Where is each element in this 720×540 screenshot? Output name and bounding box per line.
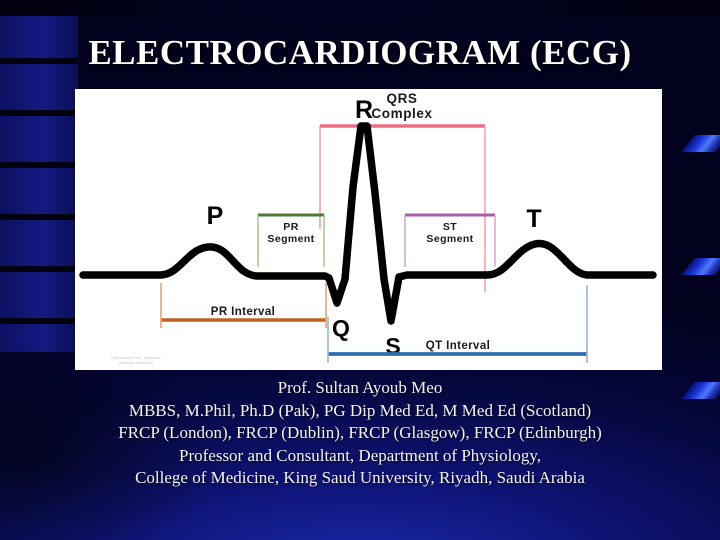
annotation-label-qrs-line2: Complex [371, 106, 432, 121]
author-line-3: FRCP (London), FRCP (Dublin), FRCP (Glas… [0, 422, 720, 445]
wave-label-q: Q [332, 315, 350, 341]
stripe-row [0, 220, 78, 266]
stripe-row [0, 116, 78, 162]
author-line-1: Prof. Sultan Ayoub Meo [0, 377, 720, 400]
wave-label-r: R [355, 96, 373, 124]
wave-label-t: T [526, 205, 541, 233]
page-title: ELECTROCARDIOGRAM (ECG) [0, 33, 720, 73]
annotation-label-pr-segment-line2: Segment [267, 233, 314, 245]
author-line-2: MBBS, M.Phil, Ph.D (Pak), PG Dip Med Ed,… [0, 400, 720, 423]
figure-watermark-line1: Reproduced from: Wikipedia [111, 356, 160, 360]
ecg-waveform-diagram: QRS Complex PR Segment ST Segment P R [75, 89, 662, 370]
author-affiliation-block: Prof. Sultan Ayoub Meo MBBS, M.Phil, Ph.… [0, 377, 720, 490]
annotation-label-st-segment-line1: ST [443, 221, 457, 233]
slide-canvas: ELECTROCARDIOGRAM (ECG) QRS Complex PR S… [0, 0, 720, 540]
slash-decoration-1 [681, 135, 720, 152]
annotation-label-pr-interval: PR Interval [211, 306, 275, 318]
ecg-trace [83, 126, 653, 321]
top-band-decoration [0, 0, 720, 16]
wave-label-p: P [207, 202, 224, 230]
ecg-figure-panel: QRS Complex PR Segment ST Segment P R [75, 89, 662, 370]
slash-decoration-2 [681, 258, 720, 275]
figure-watermark: Reproduced from: Wikipedia Anatomy illus… [81, 356, 191, 365]
annotation-label-st-segment-line2: Segment [426, 233, 473, 245]
annotation-label-pr-segment-line1: PR [283, 221, 298, 233]
author-line-4: Professor and Consultant, Department of … [0, 445, 720, 468]
stripe-row [0, 168, 78, 214]
stripe-row [0, 272, 78, 318]
annotation-label-qrs-line1: QRS [386, 91, 417, 106]
annotation-label-qt-interval: QT Interval [426, 340, 490, 352]
figure-watermark-line2: Anatomy illustration [119, 361, 154, 365]
author-line-5: College of Medicine, King Saud Universit… [0, 467, 720, 490]
